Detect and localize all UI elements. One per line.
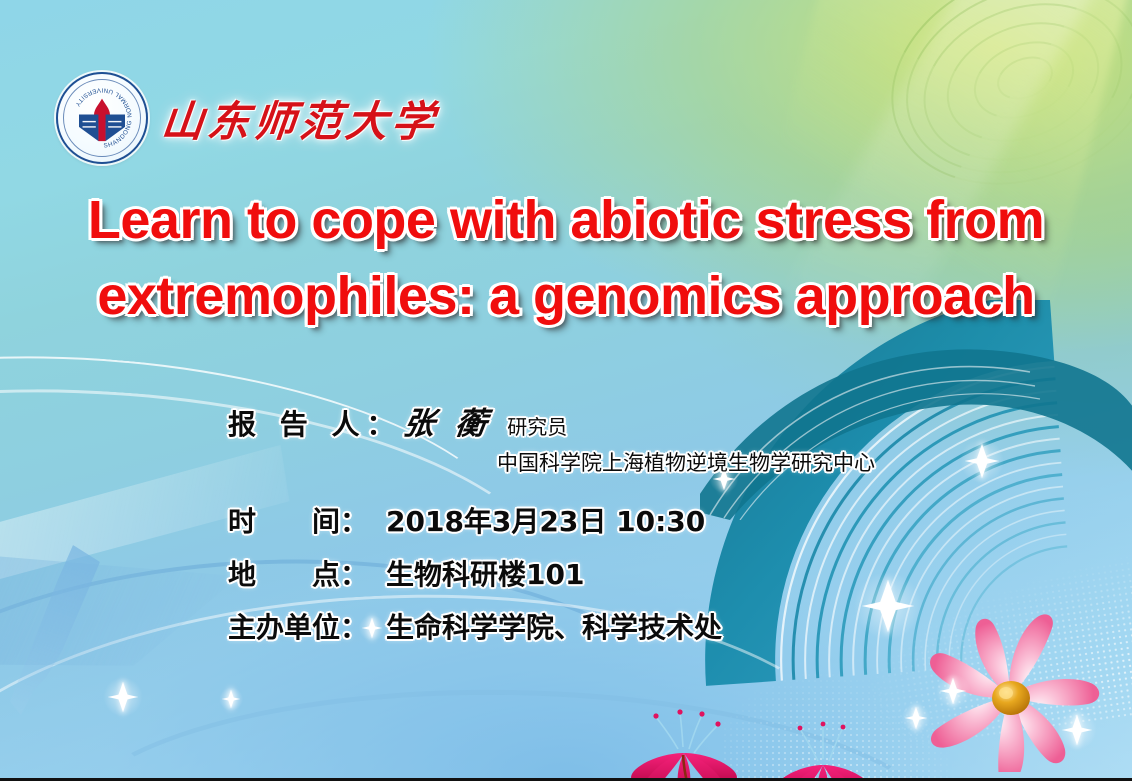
feather-swoosh-left [10,545,100,715]
event-details-list: 时间： 2018年3月23日 10:30 地点： 生物科研楼101 主办单位： … [228,500,722,659]
organizer-value: 生命科学学院、科学技术处 [386,606,722,646]
speaker-name: 张 蘅 [400,398,494,443]
halftone-dots-bottom-center [722,648,982,781]
location-value: 生物科研楼101 [386,553,584,593]
time-value: 2018年3月23日 10:30 [386,500,705,540]
location-key: 地点： [228,553,386,593]
speaker-affiliation: 中国科学院上海植物逆境生物学研究中心 [497,447,875,477]
green-swirl-ring-6 [991,49,1060,108]
time-key: 时间： [228,500,386,540]
sparkle-star-1 [965,444,999,478]
speaker-rank: 研究员 [507,411,567,440]
sparkle-star-7 [940,678,966,704]
green-swirl-ring-2 [878,0,1132,207]
blue-ribbon-bottom-3 [57,682,962,781]
organizer-row: 主办单位： 生命科学学院、科学技术处 [228,606,722,646]
pink-cosmos-flower [894,592,1124,772]
page-title: Learn to cope with abiotic stress from e… [0,182,1132,334]
sparkle-star-3 [862,580,914,632]
time-key-b: 间： [312,505,368,538]
sparkle-star-8 [222,690,240,708]
speaker-label: 报 告 人： [228,403,402,443]
university-crest-icon: SHANDONG NORMAL UNIVERSITY [56,72,148,164]
halftone-dots-bottom-right [832,548,1132,758]
time-key-a: 时 [228,505,256,538]
organizer-key-a: 主办单位： [228,611,368,644]
university-logo: SHANDONG NORMAL UNIVERSITY 山东师范大学 [56,72,438,164]
location-key-a: 地 [228,558,256,591]
crimson-lily-flowers [618,687,918,781]
sparkle-star-4 [108,682,138,712]
sparkle-star-5 [905,707,927,729]
green-swirl-ring-3 [900,0,1132,189]
title-line-2: extremophiles: a genomics approach [40,258,1092,334]
crest-emblem-icon [75,97,129,143]
time-row: 时间： 2018年3月23日 10:30 [228,500,722,540]
green-swirl-ring-4 [929,0,1117,163]
speaker-row: 报 告 人： 张 蘅 研究员 [228,398,567,443]
seminar-poster: SHANDONG NORMAL UNIVERSITY 山东师范大学 Learn … [0,0,1132,781]
sparkle-star-6 [1062,715,1092,745]
location-row: 地点： 生物科研楼101 [228,553,722,593]
organizer-key: 主办单位： [228,606,386,646]
location-key-b: 点： [312,558,368,591]
title-line-1: Learn to cope with abiotic stress from [40,182,1092,258]
green-swirl-ring-5 [962,27,1085,133]
university-wordmark: 山东师范大学 [159,88,441,149]
